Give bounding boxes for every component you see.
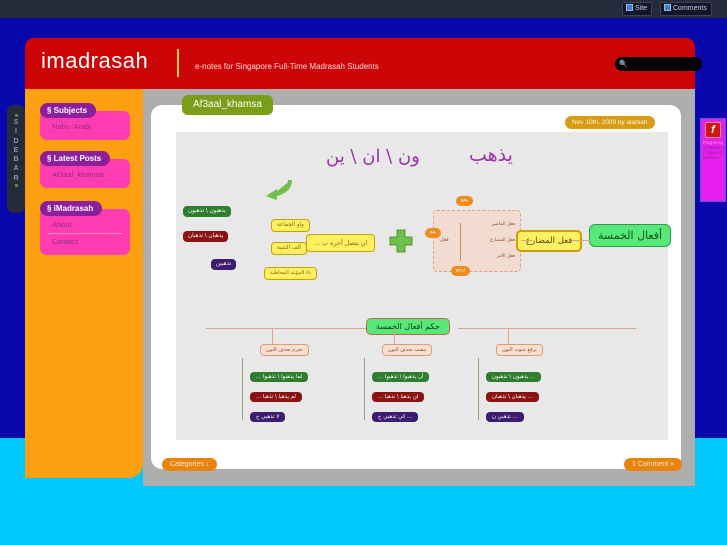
column-spine: [478, 358, 479, 420]
search-input[interactable]: [628, 58, 698, 70]
site-tagline: e-notes for Singapore Full-Time Madrasah…: [195, 62, 379, 71]
node-hukm-afaal-khamsa: حكم أفعال الخمسة: [366, 318, 450, 335]
sidebar-item-nahu-arabi[interactable]: Nahu 'Arabi: [48, 121, 122, 133]
admin-site-button[interactable]: Site: [622, 2, 652, 16]
sidebar-tab-char: E: [7, 146, 25, 155]
sidebar-tab-char: A: [7, 164, 25, 173]
handwritten-verb: يذهب: [469, 144, 513, 166]
verb-type-present: فعل المضارع: [490, 238, 515, 243]
post-title[interactable]: Af3aal_khamsa: [182, 95, 273, 115]
sidebar-column: § Subjects Nahu 'Arabi § Latest Posts Af…: [25, 88, 143, 478]
connector-line: [394, 328, 395, 344]
widget-imadrasah: § iMadrasah About Contact: [40, 198, 130, 255]
column-nominative-head: ترفع بثبوت النون: [496, 344, 543, 356]
sidebar-tab-char: D: [7, 137, 25, 146]
verb-types-cluster: فعل فعل الماضي فعل المضارع فعل الأمر: [433, 210, 521, 272]
admin-site-label: Site: [635, 5, 647, 12]
row-plural: ... يذهبون \ تذهبون: [486, 372, 541, 382]
sidebar-tab-char: B: [7, 155, 25, 164]
row-fem: لا تذهبي خ: [250, 412, 285, 422]
verb-type-past: فعل الماضي: [491, 222, 515, 227]
node-afaal-khamsa: أفعال الخمسة: [589, 224, 671, 247]
admin-comments-button[interactable]: Comments: [660, 2, 712, 16]
handwritten-suffixes: ون \ ان \ ين: [326, 146, 420, 167]
widget-imadrasah-title: § iMadrasah: [40, 201, 102, 216]
sidebar-item-af3aal-khamsa[interactable]: Af3aal_khamsa: [48, 169, 122, 181]
site-brand[interactable]: imadrasah: [41, 48, 148, 74]
connector-line: [521, 240, 533, 241]
row-dual: ... يذهبان \ تذهبان: [486, 392, 539, 402]
tag-waqaa: وقع: [456, 196, 473, 206]
admin-bar: Site Comments: [0, 0, 727, 18]
sidebar-tab-char: I: [7, 127, 25, 136]
label-waw-jamaah: واو الجماعة: [271, 219, 310, 232]
node-condition: ان يتصل أخره ب ...: [306, 234, 375, 252]
row-fem: ... كي تذهبي خ: [372, 412, 418, 422]
column-accusative-head: تنصب بحذف النون: [382, 344, 432, 356]
post-meta: Nov 10th, 2009 by alaniah: [565, 116, 655, 129]
node-fem-sing: تذهبين: [211, 259, 236, 270]
mindmap-image: يذهب ون \ ان \ ين يذهبون \ تذهبون يذهبان…: [176, 132, 668, 440]
flash-plugin-panel[interactable]: f Plug-in by additional are adjacent Rem…: [700, 118, 726, 202]
node-present-verb: فعل المضارع: [516, 230, 582, 252]
sidebar-item-contact[interactable]: Contact: [48, 233, 122, 248]
sidebar-item-about[interactable]: About: [48, 219, 122, 231]
connector-line: [508, 328, 509, 344]
node-plural-masc: يذهبون \ تذهبون: [183, 206, 231, 217]
window-icon: [626, 4, 633, 11]
label-alif-tathniyah: ألف التننية: [271, 242, 307, 255]
tab-dot-bottom-icon: [15, 184, 18, 187]
row-dual: لم يذهبا \ تذهبا ...: [250, 392, 302, 402]
row-dual: لن يذهبا \ تذهبا ...: [372, 392, 424, 402]
column-jussive-head: تجزم بحذف النون: [260, 344, 309, 356]
row-fem: ... تذهبي ن: [486, 412, 524, 422]
tab-dot-top-icon: [15, 114, 18, 117]
widget-latest-posts: § Latest Posts Af3aal_khamsa: [40, 148, 130, 188]
connector-line: [206, 328, 366, 329]
tag-irjaa: إرجع: [451, 266, 470, 276]
row-plural: أن يذهبوا \ تذهبوا ...: [372, 372, 429, 382]
flash-plugin-text: Plug-in by additional are adjacent Remov…: [703, 140, 726, 160]
verb-type-imperative: فعل الأمر: [497, 254, 515, 259]
connector-line: [572, 240, 590, 241]
comment-count-button[interactable]: 1 Comment »: [624, 458, 682, 471]
connector-line: [272, 328, 273, 344]
row-plural: لما يذهبوا \ تذهبوا ...: [250, 372, 308, 382]
widget-subjects-title: § Subjects: [40, 103, 96, 118]
node-dual: يذهبان \ تذهبان: [183, 231, 228, 242]
admin-comments-label: Comments: [673, 5, 707, 12]
widget-latest-posts-title: § Latest Posts: [40, 151, 110, 166]
brand-divider: [177, 49, 179, 77]
categories-button[interactable]: Categories ↓: [162, 458, 217, 471]
search-box[interactable]: 🔍: [615, 57, 702, 71]
cluster-divider: [460, 223, 461, 261]
search-icon: 🔍: [619, 60, 628, 68]
plus-sign-icon: [388, 228, 414, 254]
connector-line: [458, 328, 636, 329]
sidebar-tab-char: R: [7, 174, 25, 183]
site-header: imadrasah e-notes for Singapore Full-Tim…: [25, 38, 695, 89]
sidebar-tab-char: S: [7, 118, 25, 127]
flash-plugin-icon: f: [705, 122, 721, 138]
cluster-side-label: فعل: [440, 237, 449, 243]
widget-subjects: § Subjects Nahu 'Arabi: [40, 100, 130, 140]
column-spine: [242, 358, 243, 420]
column-spine: [364, 358, 365, 420]
sidebar-toggle-tab[interactable]: S I D E B A R: [7, 105, 25, 213]
tag-yaqaa: يقع: [425, 228, 441, 238]
label-ya-mukhatabah: ياء المؤنثة المخاطبة: [264, 267, 317, 280]
comment-icon: [664, 4, 671, 11]
flash-line-4[interactable]: Remove: [703, 155, 719, 160]
curved-arrow-icon: [264, 178, 294, 200]
